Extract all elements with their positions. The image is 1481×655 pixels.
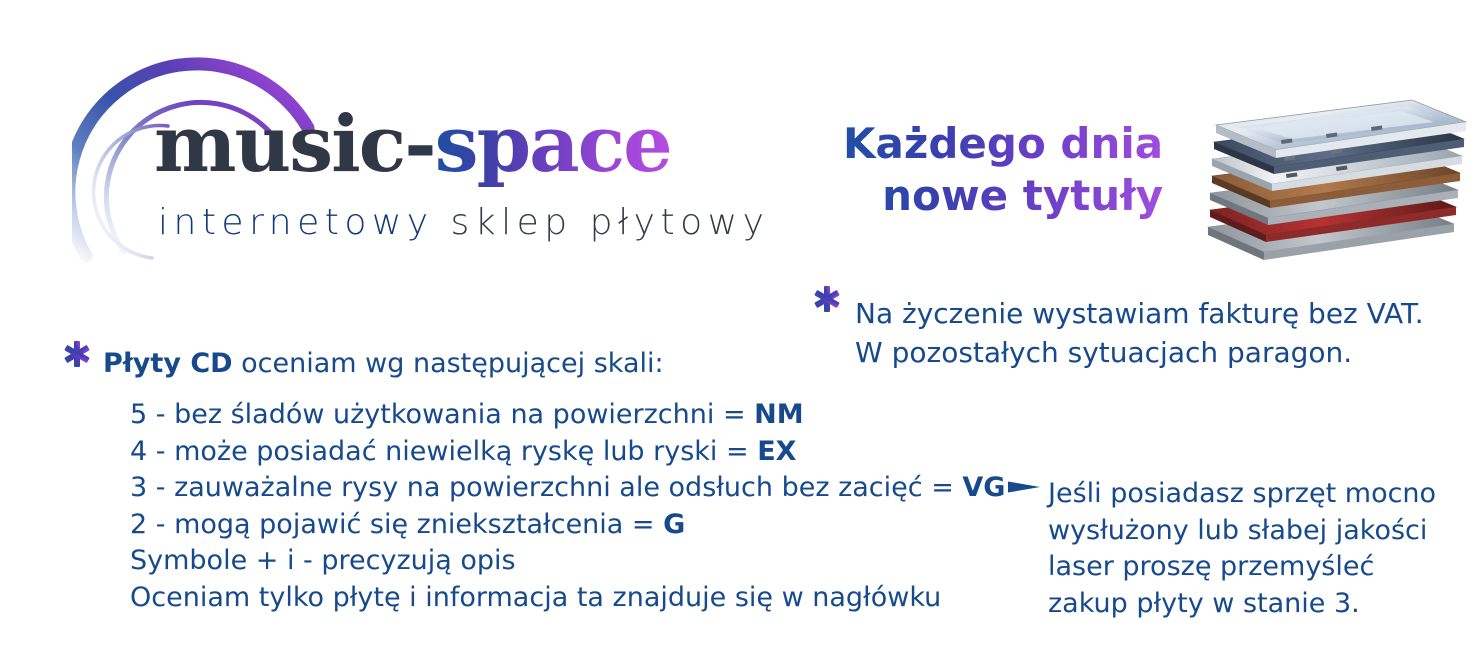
asterisk-icon [812,284,842,314]
scale-row-text: Oceniam tylko płytę i informacja ta znaj… [130,582,941,613]
logo-word-music: music [154,99,404,190]
scale-row-text: Symbole + i - precyzują opis [130,545,516,576]
asterisk-icon [62,339,92,369]
vat-note-line-1: Na życzenie wystawiam fakturę bez VAT. [855,295,1424,334]
scale-row: Symbole + i - precyzują opis [130,543,1005,580]
scale-row: 5 - bez śladów użytkowania na powierzchn… [130,397,1005,434]
scale-row-text: 4 - może posiadać niewielką ryskę lub ry… [130,436,757,467]
slogan-line-1: Każdego dnia [843,118,1163,170]
logo-tagline-part2: sklep płytowy [451,202,770,243]
scale-heading-rest: oceniam wg następującej skali: [233,348,664,379]
scale-row-text: 3 - zauważalne rysy na powierzchni ale o… [130,472,962,503]
advice-note: Jeśli posiadasz sprzęt mocno wysłużony l… [1048,476,1436,622]
scale-row-text: 5 - bez śladów użytkowania na powierzchn… [130,399,754,430]
logo-tagline-part1: internetowy [158,202,451,243]
logo-wordmark: music-space [154,106,671,184]
right-arrow-icon [948,477,1053,497]
scale-heading: Płyty CD oceniam wg następującej skali: [103,350,664,377]
site-logo[interactable]: music-space internetowy sklep płytowy [72,20,772,270]
scale-row: Oceniam tylko płytę i informacja ta znaj… [130,580,1005,617]
advice-line: laser proszę przemyśleć [1048,549,1436,586]
advice-line: wysłużony lub słabej jakości [1048,513,1436,550]
advice-line: Jeśli posiadasz sprzęt mocno [1048,476,1436,513]
scale-row-grade: G [663,509,685,540]
logo-word-space: space [435,99,671,190]
slogan-line-2: nowe tytuły [843,170,1163,222]
logo-word-dash: - [404,99,434,190]
scale-row-grade: EX [757,436,796,467]
vat-note-line-2: W pozostałych sytuacjach paragon. [855,334,1424,373]
advice-line: zakup płyty w stanie 3. [1048,586,1436,623]
scale-row: 3 - zauważalne rysy na powierzchni ale o… [130,470,1005,507]
slogan: Każdego dnia nowe tytuły [843,118,1163,222]
banner-canvas: music-space internetowy sklep płytowy Ka… [0,0,1481,655]
scale-row: 4 - może posiadać niewielką ryskę lub ry… [130,434,1005,471]
scale-row-text: 2 - mogą pojawić się zniekształcenia = [130,509,663,540]
scale-row-grade: NM [754,399,803,430]
scale-row: 2 - mogą pojawić się zniekształcenia = G [130,507,1005,544]
scale-heading-bold: Płyty CD [103,348,233,379]
scale-list: 5 - bez śladów użytkowania na powierzchn… [130,397,1005,616]
cd-stack-photo [1186,52,1476,282]
logo-tagline: internetowy sklep płytowy [158,202,769,243]
vat-note: Na życzenie wystawiam fakturę bez VAT. W… [855,295,1424,372]
